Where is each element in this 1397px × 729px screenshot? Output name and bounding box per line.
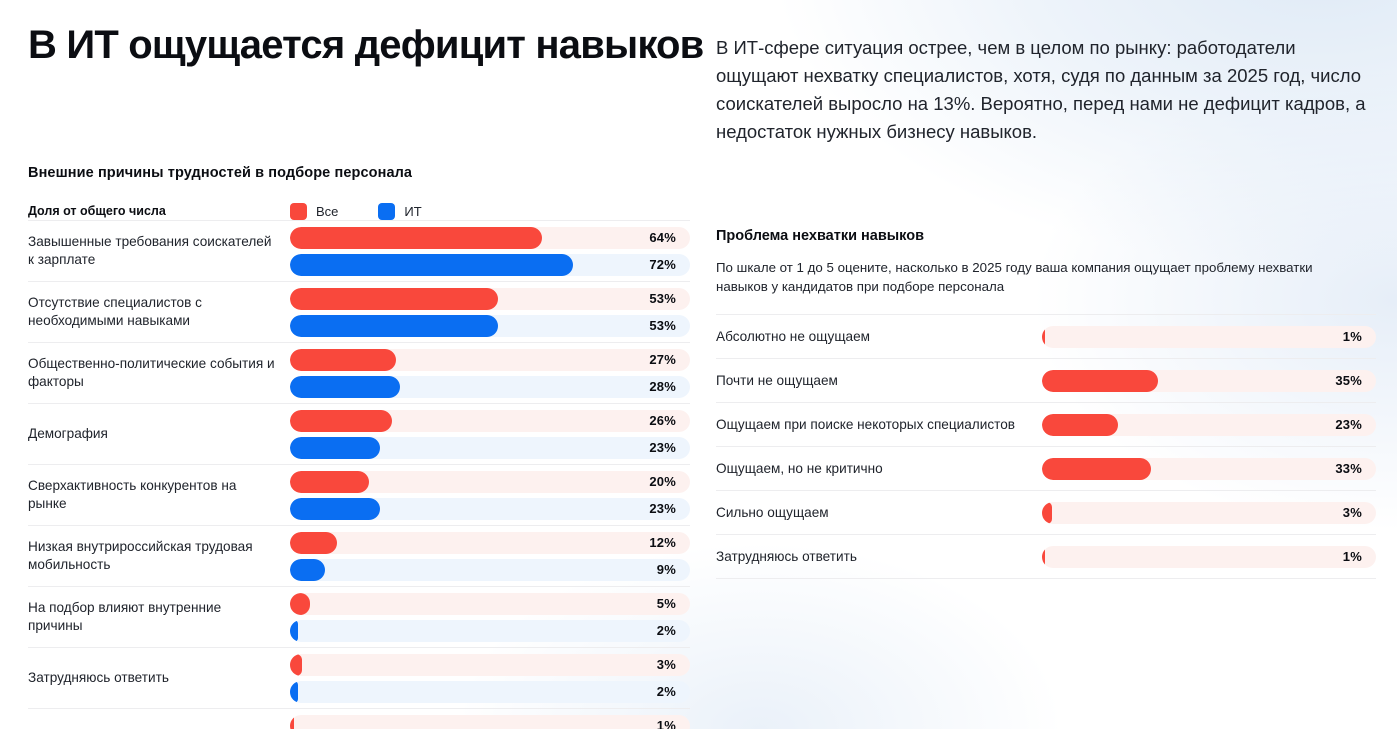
chart-row-bars: 5%2%	[290, 593, 690, 642]
bar-value-label: 1%	[1343, 326, 1362, 348]
chart-row-label: Почти не ощущаем	[716, 372, 1042, 390]
bar-value-label: 35%	[1335, 370, 1362, 392]
bar-track-red: 3%	[1042, 502, 1376, 524]
bar-fill-blue	[290, 315, 498, 337]
bar-fill-red	[290, 532, 337, 554]
bar-fill-red	[290, 471, 369, 493]
chart-row: Другое1%0%	[28, 708, 690, 729]
chart-row-bars: 1%	[1042, 326, 1376, 348]
legend-caption: Доля от общего числа	[28, 204, 290, 218]
bar-value-label: 23%	[1335, 414, 1362, 436]
bar-fill-red	[1042, 370, 1158, 392]
intro-paragraph: В ИТ-сфере ситуация острее, чем в целом …	[716, 34, 1376, 146]
chart-row-bars: 23%	[1042, 414, 1376, 436]
chart-row: Демография26%23%	[28, 403, 690, 464]
chart-row: Абсолютно не ощущаем1%	[716, 314, 1376, 358]
chart-row: Общественно-политические события и факто…	[28, 342, 690, 403]
bar-fill-red	[290, 654, 302, 676]
bar-value-label: 1%	[1343, 546, 1362, 568]
chart-row-label: Абсолютно не ощущаем	[716, 328, 1042, 346]
bar-track-blue: 2%	[290, 681, 690, 703]
chart-row-label: Сверхактивность конкурентов на рынке	[28, 477, 290, 513]
bar-track-red: 5%	[290, 593, 690, 615]
bar-value-label: 3%	[657, 654, 676, 676]
bar-fill-blue	[290, 498, 380, 520]
bar-fill-red	[290, 593, 310, 615]
bar-track-red: 12%	[290, 532, 690, 554]
bar-fill-red	[1042, 326, 1045, 348]
bar-track-red: 64%	[290, 227, 690, 249]
bar-track-red: 1%	[290, 715, 690, 729]
bar-value-label: 64%	[649, 227, 676, 249]
bar-value-label: 72%	[649, 254, 676, 276]
bar-value-label: 9%	[657, 559, 676, 581]
bar-fill-blue	[290, 437, 380, 459]
bar-track-blue: 28%	[290, 376, 690, 398]
bar-fill-red	[1042, 458, 1151, 480]
chart-row-bars: 27%28%	[290, 349, 690, 398]
bar-fill-red	[290, 349, 396, 371]
bar-value-label: 53%	[649, 315, 676, 337]
left-chart-legend: Доля от общего числа Все ИТ	[28, 202, 690, 220]
bar-fill-blue	[290, 559, 325, 581]
legend-label-it: ИТ	[404, 204, 421, 219]
legend-swatch-all-icon	[290, 203, 307, 220]
chart-row-label: Сильно ощущаем	[716, 504, 1042, 522]
chart-row-bars: 26%23%	[290, 410, 690, 459]
chart-row: На подбор влияют внутренние причины5%2%	[28, 586, 690, 647]
bar-fill-red	[290, 410, 392, 432]
chart-row-label: Ощущаем, но не критично	[716, 460, 1042, 478]
bar-track-red: 27%	[290, 349, 690, 371]
bar-value-label: 28%	[649, 376, 676, 398]
bar-fill-red	[1042, 546, 1045, 568]
bar-track-red: 1%	[1042, 326, 1376, 348]
left-chart-panel: Внешние причины трудностей в подборе пер…	[28, 165, 690, 729]
bar-value-label: 2%	[657, 620, 676, 642]
chart-row: Отсутствие специалистов с необходимыми н…	[28, 281, 690, 342]
chart-row-label: Ощущаем при поиске некоторых специалисто…	[716, 416, 1042, 434]
chart-row-label: Общественно-политические события и факто…	[28, 355, 290, 391]
bar-track-blue: 72%	[290, 254, 690, 276]
bar-track-red: 53%	[290, 288, 690, 310]
bar-track-blue: 23%	[290, 498, 690, 520]
chart-row-label: Завышенные требования соискателей к зарп…	[28, 233, 290, 269]
bar-track-red: 3%	[290, 654, 690, 676]
bar-value-label: 1%	[657, 715, 676, 729]
right-chart-rows: Абсолютно не ощущаем1%Почти не ощущаем35…	[716, 314, 1376, 579]
bar-fill-red	[290, 288, 498, 310]
bar-track-blue: 2%	[290, 620, 690, 642]
bar-value-label: 26%	[649, 410, 676, 432]
chart-row: Затрудняюсь ответить3%2%	[28, 647, 690, 708]
chart-row-bars: 3%2%	[290, 654, 690, 703]
chart-row-bars: 12%9%	[290, 532, 690, 581]
chart-row-bars: 1%0%	[290, 715, 690, 729]
chart-row: Завышенные требования соискателей к зарп…	[28, 220, 690, 281]
bar-fill-red	[290, 715, 294, 729]
bar-track-blue: 53%	[290, 315, 690, 337]
chart-row-label: На подбор влияют внутренние причины	[28, 599, 290, 635]
legend-label-all: Все	[316, 204, 338, 219]
right-chart-panel: Проблема нехватки навыков По шкале от 1 …	[716, 228, 1376, 579]
chart-row-bars: 33%	[1042, 458, 1376, 480]
chart-bottom-divider	[716, 578, 1376, 579]
bar-track-red: 26%	[290, 410, 690, 432]
bar-value-label: 53%	[649, 288, 676, 310]
bar-fill-blue	[290, 376, 400, 398]
left-chart-title: Внешние причины трудностей в подборе пер…	[28, 165, 690, 181]
bar-value-label: 12%	[649, 532, 676, 554]
chart-row-label: Отсутствие специалистов с необходимыми н…	[28, 294, 290, 330]
chart-row-label: Низкая внутрироссийская трудовая мобильн…	[28, 538, 290, 574]
bar-track-blue: 9%	[290, 559, 690, 581]
infographic-page: В ИТ ощущается дефицит навыков В ИТ-сфер…	[0, 0, 1397, 729]
chart-row-bars: 64%72%	[290, 227, 690, 276]
bar-track-red: 23%	[1042, 414, 1376, 436]
bar-value-label: 27%	[649, 349, 676, 371]
legend-swatch-it-icon	[378, 203, 395, 220]
bar-value-label: 33%	[1335, 458, 1362, 480]
chart-row-bars: 3%	[1042, 502, 1376, 524]
right-chart-subtitle: По шкале от 1 до 5 оцените, насколько в …	[716, 258, 1350, 296]
chart-row: Сверхактивность конкурентов на рынке20%2…	[28, 464, 690, 525]
chart-row: Почти не ощущаем35%	[716, 358, 1376, 402]
bar-fill-red	[1042, 502, 1052, 524]
chart-row-label: Демография	[28, 425, 290, 443]
chart-row-bars: 35%	[1042, 370, 1376, 392]
bar-value-label: 23%	[649, 498, 676, 520]
chart-row-bars: 1%	[1042, 546, 1376, 568]
bar-value-label: 20%	[649, 471, 676, 493]
bar-track-red: 20%	[290, 471, 690, 493]
bar-fill-red	[1042, 414, 1118, 436]
bar-track-red: 33%	[1042, 458, 1376, 480]
bar-value-label: 2%	[657, 681, 676, 703]
bar-track-blue: 23%	[290, 437, 690, 459]
chart-row-bars: 53%53%	[290, 288, 690, 337]
bar-fill-blue	[290, 681, 298, 703]
left-chart-rows: Завышенные требования соискателей к зарп…	[28, 220, 690, 729]
bar-fill-red	[290, 227, 542, 249]
bar-track-red: 1%	[1042, 546, 1376, 568]
chart-row: Сильно ощущаем3%	[716, 490, 1376, 534]
bar-track-red: 35%	[1042, 370, 1376, 392]
chart-row-bars: 20%23%	[290, 471, 690, 520]
legend-item-all: Все	[290, 203, 338, 220]
bar-value-label: 23%	[649, 437, 676, 459]
bar-fill-blue	[290, 620, 298, 642]
bar-value-label: 5%	[657, 593, 676, 615]
legend-item-it: ИТ	[378, 203, 421, 220]
bar-fill-blue	[290, 254, 573, 276]
right-chart-title: Проблема нехватки навыков	[716, 228, 1376, 244]
chart-row: Ощущаем при поиске некоторых специалисто…	[716, 402, 1376, 446]
chart-row-label: Затрудняюсь ответить	[28, 669, 290, 687]
chart-row: Ощущаем, но не критично33%	[716, 446, 1376, 490]
chart-row-label: Затрудняюсь ответить	[716, 548, 1042, 566]
bar-value-label: 3%	[1343, 502, 1362, 524]
chart-row: Затрудняюсь ответить1%	[716, 534, 1376, 578]
page-title: В ИТ ощущается дефицит навыков	[28, 22, 708, 68]
chart-row: Низкая внутрироссийская трудовая мобильн…	[28, 525, 690, 586]
